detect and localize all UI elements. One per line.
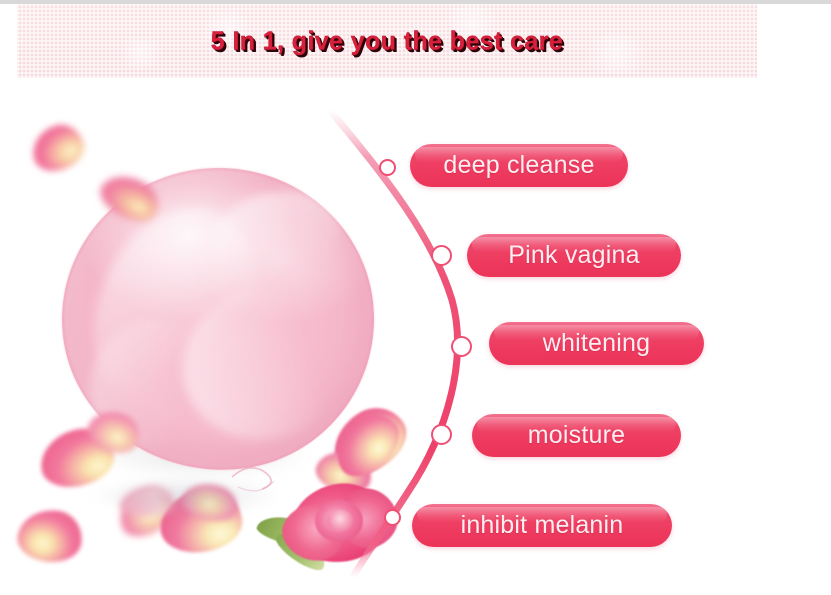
petal-ground-shadow	[92, 476, 282, 516]
benefit-label: deep cleanse	[443, 151, 594, 180]
bullet-circle-1	[379, 159, 396, 176]
benefit-pill-whitening[interactable]: whitening	[489, 322, 704, 365]
benefit-label: inhibit melanin	[461, 511, 624, 540]
bullet-circle-4	[431, 424, 452, 445]
bullet-circle-5	[384, 509, 401, 526]
rose-petal	[15, 506, 86, 566]
infographic-canvas: 5 In 1, give you the best care	[0, 0, 831, 595]
benefit-pill-pink-vagina[interactable]: Pink vagina	[467, 234, 681, 277]
benefit-label: moisture	[528, 421, 625, 450]
page-title: 5 In 1, give you the best care	[17, 3, 757, 80]
benefit-pill-moisture[interactable]: moisture	[472, 414, 681, 457]
benefit-label: whitening	[543, 329, 650, 358]
bullet-circle-3	[451, 336, 472, 357]
benefit-pill-inhibit-melanin[interactable]: inhibit melanin	[412, 504, 672, 547]
rose-bloom	[255, 478, 405, 574]
benefit-label: Pink vagina	[508, 241, 639, 270]
rose-center	[327, 510, 353, 532]
bullet-circle-2	[431, 245, 452, 266]
benefit-pill-deep-cleanse[interactable]: deep cleanse	[410, 144, 628, 187]
